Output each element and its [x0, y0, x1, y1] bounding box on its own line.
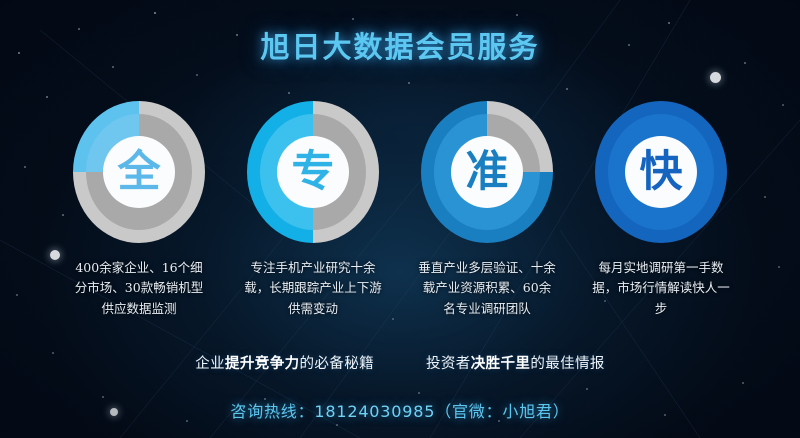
tagline-enterprise-post: 的必备秘籍 — [300, 356, 375, 372]
donut-hub-zhun: 准 — [451, 136, 523, 208]
donut-chart-zhuan: 专 — [247, 101, 379, 243]
donut-chart-quan: 全 — [73, 101, 205, 243]
pillar-item-kuai[interactable]: 快 — [592, 98, 730, 246]
tagline-investor-strong: 决胜千里 — [471, 356, 531, 372]
pillar-donut-row: 全 专 准 — [0, 98, 800, 246]
tagline-investor: 投资者决胜千里的最佳情报 — [426, 352, 605, 373]
pillar-item-zhuan[interactable]: 专 — [244, 98, 382, 246]
pillar-item-zhun[interactable]: 准 — [418, 98, 556, 246]
tagline-row: 企业提升竞争力的必备秘籍 投资者决胜千里的最佳情报 — [0, 352, 800, 373]
donut-hub-quan: 全 — [103, 136, 175, 208]
donut-chart-kuai: 快 — [595, 101, 727, 243]
pillar-glyph-quan: 全 — [118, 151, 161, 194]
donut-hub-zhuan: 专 — [277, 136, 349, 208]
donut-hub-kuai: 快 — [625, 136, 697, 208]
pillar-caption-row: 400余家企业、16个细分市场、30款畅销机型供应数据监测 专注手机产业研究十余… — [0, 258, 800, 319]
tagline-investor-post: 的最佳情报 — [530, 356, 605, 372]
pillar-caption-kuai: 每月实地调研第一手数据，市场行情解读快人一步 — [592, 258, 730, 319]
pillar-caption-zhun: 垂直产业多层验证、十余载产业资源积累、60余名专业调研团队 — [418, 258, 556, 319]
hotline-suffix: （官微：小旭君） — [435, 402, 569, 421]
hotline-number[interactable]: 18124030985 — [314, 402, 435, 421]
tagline-enterprise-pre: 企业 — [195, 356, 225, 372]
pillar-caption-quan: 400余家企业、16个细分市场、30款畅销机型供应数据监测 — [70, 258, 208, 319]
pillar-glyph-zhuan: 专 — [292, 151, 335, 194]
pillar-glyph-kuai: 快 — [640, 151, 683, 194]
pillar-item-quan[interactable]: 全 — [70, 98, 208, 246]
donut-chart-zhun: 准 — [421, 101, 553, 243]
tagline-enterprise: 企业提升竞争力的必备秘籍 — [195, 352, 374, 373]
tagline-enterprise-strong: 提升竞争力 — [225, 356, 300, 372]
hotline-label: 咨询热线： — [230, 402, 314, 421]
hotline-row: 咨询热线：18124030985（官微：小旭君） — [0, 398, 800, 422]
pillar-caption-zhuan: 专注手机产业研究十余载，长期跟踪产业上下游供需变动 — [244, 258, 382, 319]
pillar-glyph-zhun: 准 — [466, 151, 509, 194]
tagline-investor-pre: 投资者 — [426, 356, 471, 372]
promo-banner: 旭日大数据会员服务 全 专 — [0, 0, 800, 438]
page-title: 旭日大数据会员服务 — [0, 24, 800, 66]
particle-dot-topright — [710, 72, 721, 83]
